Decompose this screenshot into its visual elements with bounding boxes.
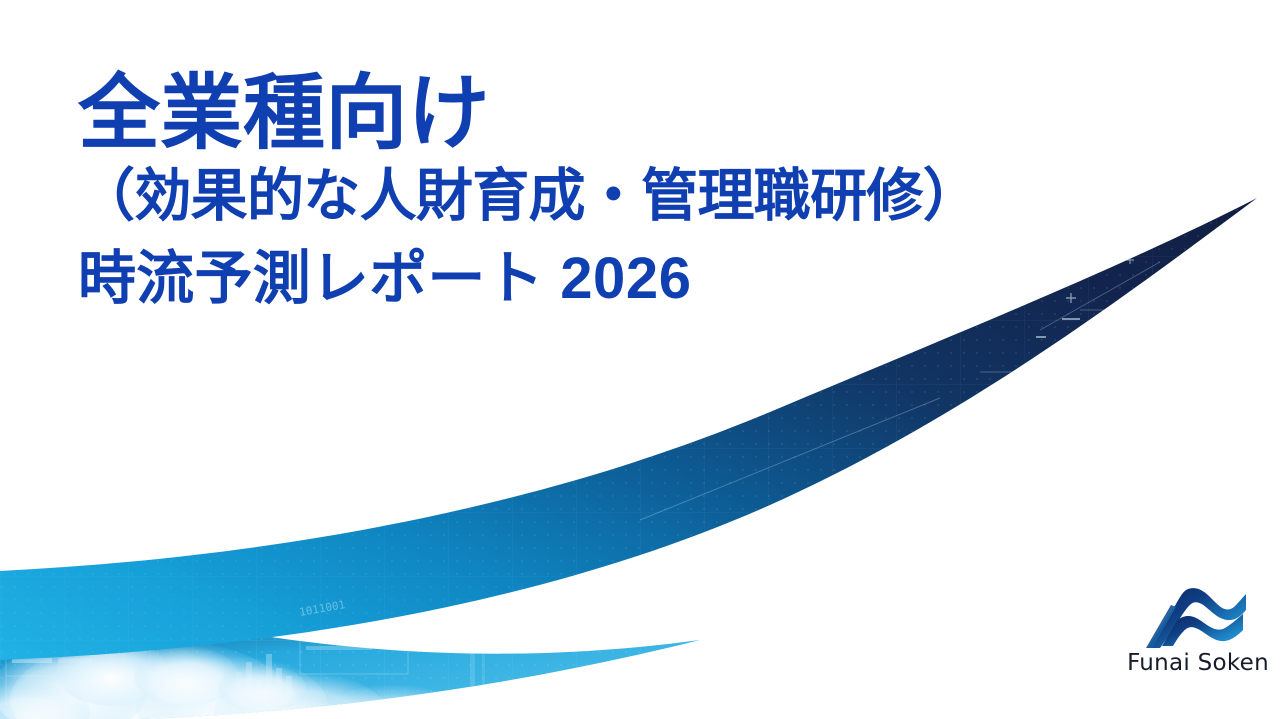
slide-canvas: 0110101011 10110 1011001: [0, 0, 1280, 719]
hud-gauge: [126, 574, 178, 626]
report-year: 2026: [560, 246, 691, 311]
tech-hud-overlay: [6, 578, 150, 719]
hud-data-bars: [722, 545, 790, 595]
funai-soken-logo: Funai Soken: [1124, 586, 1272, 686]
logo-wordmark: Funai Soken: [1124, 650, 1272, 676]
title-block: 全業種向け （効果的な人財育成・管理職研修） 時流予測レポート 2026: [78, 72, 979, 310]
page-title: 全業種向け: [78, 72, 979, 156]
binary-digits: 0110101011 10110 1011001: [298, 555, 843, 624]
page-subtitle: （効果的な人財育成・管理職研修）: [78, 166, 979, 228]
globe-map-texture: [772, 450, 1030, 566]
hud-bar-chart: [236, 654, 292, 698]
report-label: 時流予測レポート: [78, 246, 544, 311]
report-line: 時流予測レポート 2026: [78, 249, 979, 310]
svg-text:1011001: 1011001: [298, 598, 346, 619]
hud-panel-right: [300, 560, 655, 700]
svg-text:0110101011: 0110101011: [755, 576, 832, 624]
cloud-sky-band: [0, 540, 760, 719]
svg-text:10110: 10110: [801, 555, 843, 586]
funai-soken-wave-mark: [1146, 586, 1250, 648]
clouds: [0, 638, 548, 719]
